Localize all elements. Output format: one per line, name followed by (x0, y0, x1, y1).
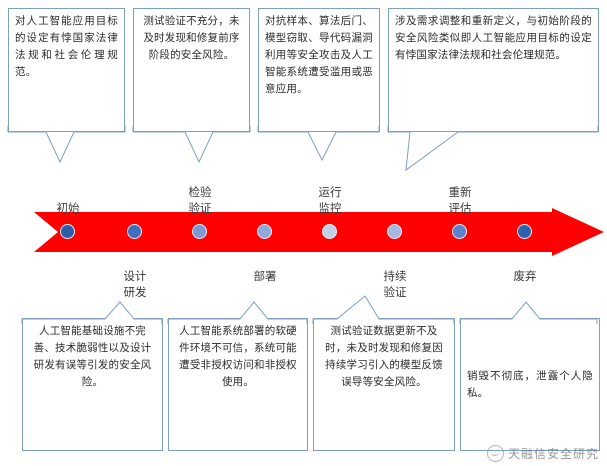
stage-label-disposal: 废弃 (493, 252, 557, 284)
callout-disposal-risk: 销毁不彻底，泄露个人隐私。 (460, 318, 600, 451)
stage-label-reassess-text: 重新 评估 (449, 185, 472, 215)
callout-design-risk-text: 人工智能基础设施不完善、技术脆弱性以及设计研发有误等引发的安全风险。 (29, 323, 156, 391)
stage-label-inspection-text: 检验 验证 (189, 185, 212, 215)
milestone-dot-6 (387, 224, 402, 239)
callout-disposal-risk-text: 销毁不彻底，泄露个人隐私。 (467, 368, 593, 402)
stage-label-initial-text: 初始 (57, 201, 80, 215)
callout-verify-risk-text: 测试验证不充分，未及时发现和修复前序阶段的安全风险。 (140, 13, 243, 64)
callout-reassess-risk-tail (388, 126, 601, 174)
milestone-dot-7 (452, 224, 467, 239)
callout-continuous-risk-tail (313, 294, 457, 324)
milestone-dot-8 (517, 224, 532, 239)
stage-label-disposal-text: 废弃 (514, 269, 537, 283)
callout-initial-risk-text: 对人工智能应用目标的设定有悖国家法律法规和社会伦理规范。 (15, 13, 118, 81)
milestone-dot-2 (127, 224, 142, 239)
callout-reassess-risk-text: 涉及需求调整和重新定义，与初始阶段的安全风险类似即人工智能应用目标的设定有悖国家… (395, 13, 592, 64)
milestone-dot-3 (192, 224, 207, 239)
stage-label-inspection: 检验 验证 (168, 168, 232, 216)
callout-deploy-risk: 人工智能系统部署的软硬件环境不可信，系统可能遭受非授权访问和非授权使用。 (168, 318, 308, 451)
watermark: 天融信安全研究 (487, 445, 599, 462)
stage-label-initial: 初始 (36, 184, 100, 216)
callout-design-risk-tail (22, 300, 165, 324)
callout-disposal-risk-tail (460, 300, 600, 324)
stage-label-design: 设计 研发 (103, 252, 167, 300)
stage-label-deploy-text: 部署 (254, 269, 277, 283)
watermark-text: 天融信安全研究 (508, 445, 599, 462)
callout-verify-risk: 测试验证不充分，未及时发现和修复前序阶段的安全风险。 (133, 8, 250, 132)
stage-label-continuous: 持续 验证 (363, 252, 427, 300)
stage-label-deploy: 部署 (233, 252, 297, 284)
stage-label-runtime-text: 运行 监控 (319, 185, 342, 215)
callout-initial-risk-tail (8, 126, 128, 168)
callout-continuous-risk: 测试验证数据更新不及时，未及时发现和修复因持续学习引入的模型反馈误导等安全风险。 (313, 318, 455, 451)
callout-deploy-risk-text: 人工智能系统部署的软硬件环境不可信，系统可能遭受非授权访问和非授权使用。 (175, 323, 301, 391)
callout-deploy-risk-tail (168, 300, 310, 324)
callout-initial-risk: 对人工智能应用目标的设定有悖国家法律法规和社会伦理规范。 (8, 8, 125, 132)
watermark-logo-icon (487, 445, 504, 462)
callout-runtime-risk: 对抗样本、算法后门、模型窃取、导代码漏洞利用等安全攻击及人工智能系统遭受滥用或恶… (258, 8, 380, 132)
callout-verify-risk-tail (133, 126, 253, 168)
milestone-dot-5 (322, 224, 337, 239)
milestone-dot-1 (60, 224, 75, 239)
diagram-canvas: 对人工智能应用目标的设定有悖国家法律法规和社会伦理规范。 测试验证不充分，未及时… (0, 0, 607, 466)
milestone-dot-4 (257, 224, 272, 239)
stage-label-runtime: 运行 监控 (298, 168, 362, 216)
callout-runtime-risk-tail (258, 126, 382, 168)
callout-design-risk: 人工智能基础设施不完善、技术脆弱性以及设计研发有误等引发的安全风险。 (22, 318, 163, 451)
callout-continuous-risk-text: 测试验证数据更新不及时，未及时发现和修复因持续学习引入的模型反馈误导等安全风险。 (320, 323, 448, 391)
stage-label-reassess: 重新 评估 (428, 168, 492, 216)
stage-label-design-text: 设计 研发 (124, 269, 147, 299)
callout-runtime-risk-text: 对抗样本、算法后门、模型窃取、导代码漏洞利用等安全攻击及人工智能系统遭受滥用或恶… (265, 13, 373, 98)
callout-reassess-risk: 涉及需求调整和重新定义，与初始阶段的安全风险类似即人工智能应用目标的设定有悖国家… (388, 8, 599, 132)
